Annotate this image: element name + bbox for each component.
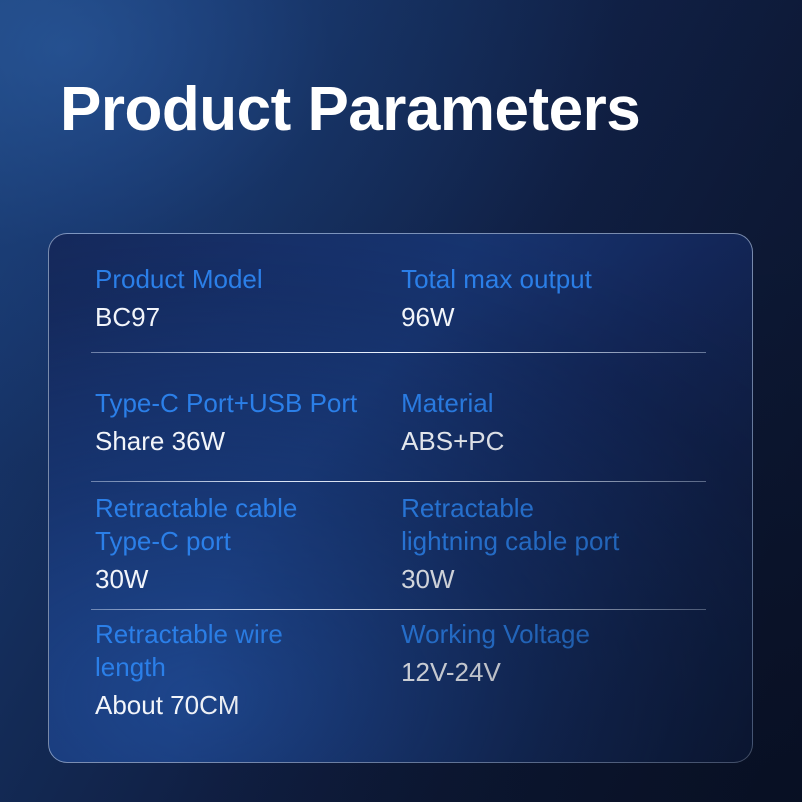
spec-value: 30W <box>95 563 401 596</box>
spec-label: Retractable cable Type-C port <box>95 492 401 558</box>
spec-value: ABS+PC <box>401 425 752 458</box>
row-divider <box>91 352 706 353</box>
spec-value: About 70CM <box>95 689 401 722</box>
spec-cell-product-model: Product Model BC97 <box>49 263 401 334</box>
spec-label: Material <box>401 387 752 420</box>
row-divider <box>91 481 706 482</box>
spec-label: Total max output <box>401 263 752 296</box>
page-background: Product Parameters Product Model BC97 To… <box>0 0 802 802</box>
spec-label: Product Model <box>95 263 401 296</box>
spec-value: Share 36W <box>95 425 401 458</box>
spec-cell-retractable-lightning-port: Retractable lightning cable port 30W <box>401 492 752 596</box>
table-row: Type-C Port+USB Port Share 36W Material … <box>49 387 752 458</box>
spec-cell-typec-usb-port: Type-C Port+USB Port Share 36W <box>49 387 401 458</box>
spec-cell-working-voltage: Working Voltage 12V-24V <box>401 618 752 722</box>
spec-label: Retractable lightning cable port <box>401 492 752 558</box>
spec-value: BC97 <box>95 301 401 334</box>
spec-cell-total-max-output: Total max output 96W <box>401 263 752 334</box>
specification-card-inner: Product Model BC97 Total max output 96W … <box>49 234 752 762</box>
table-row: Retractable cable Type-C port 30W Retrac… <box>49 492 752 596</box>
spec-value: 12V-24V <box>401 656 752 689</box>
spec-label: Working Voltage <box>401 618 752 651</box>
table-row: Product Model BC97 Total max output 96W <box>49 263 752 334</box>
spec-value: 30W <box>401 563 752 596</box>
spec-value: 96W <box>401 301 752 334</box>
spec-label: Retractable wire length <box>95 618 401 684</box>
spec-cell-retractable-typec-port: Retractable cable Type-C port 30W <box>49 492 401 596</box>
spec-label: Type-C Port+USB Port <box>95 387 401 420</box>
specification-card: Product Model BC97 Total max output 96W … <box>48 233 753 763</box>
row-divider <box>91 609 706 610</box>
spec-cell-retractable-wire-length: Retractable wire length About 70CM <box>49 618 401 722</box>
spec-cell-material: Material ABS+PC <box>401 387 752 458</box>
table-row: Retractable wire length About 70CM Worki… <box>49 618 752 722</box>
page-title: Product Parameters <box>60 79 640 141</box>
